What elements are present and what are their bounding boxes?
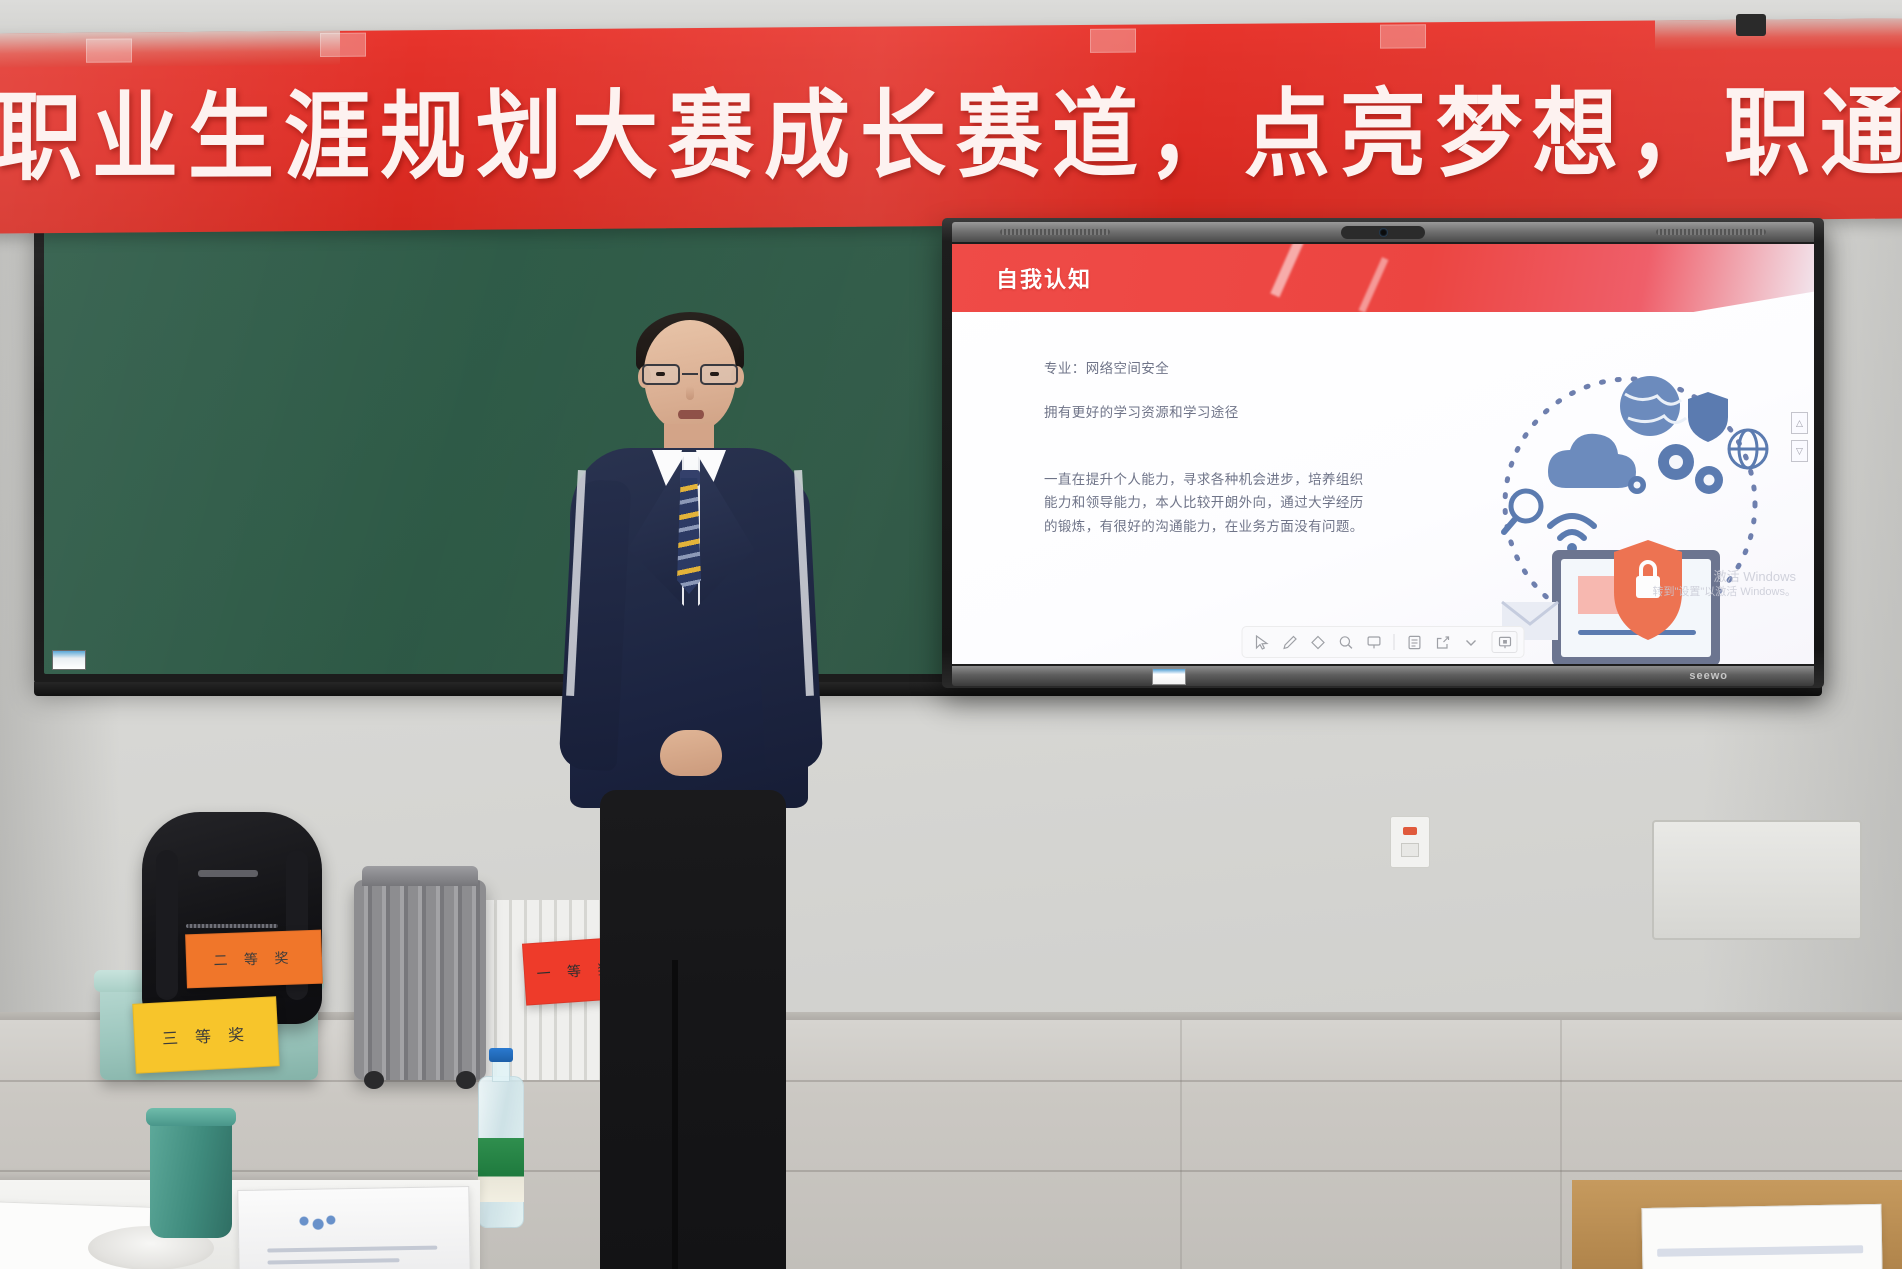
wall-access-panel	[1652, 820, 1862, 940]
camera-pod	[1341, 226, 1425, 239]
presentation-slide: 自我认知 专业：网络空间安全 拥有更好的学习资源和学习途径 一直在提升个人能力，…	[952, 244, 1814, 664]
backpack-zipper	[186, 924, 278, 928]
toolbar-divider	[1394, 634, 1395, 650]
slide-paragraph: 一直在提升个人能力，寻求各种机会进步，培养组织能力和领导能力，本人比较开朗外向，…	[1044, 469, 1374, 540]
clasped-hands	[660, 730, 722, 776]
document-stack	[237, 1186, 471, 1269]
interactive-smart-display[interactable]: 自我认知 专业：网络空间安全 拥有更好的学习资源和学习途径 一直在提升个人能力，…	[942, 218, 1824, 688]
switch-indicator-led	[1403, 827, 1417, 835]
backpack	[142, 812, 322, 1024]
slide-body: 专业：网络空间安全 拥有更好的学习资源和学习途径 一直在提升个人能力，寻求各种机…	[952, 312, 1814, 664]
floor-tile-line	[0, 1080, 1902, 1082]
screen-glare-streak	[1270, 244, 1304, 297]
award-card-second: 二 等 奖	[185, 930, 323, 989]
display-panel[interactable]: 自我认知 专业：网络空间安全 拥有更好的学习资源和学习途径 一直在提升个人能力，…	[952, 244, 1814, 664]
eraser-icon[interactable]	[1305, 631, 1331, 653]
watermark-title: 激活 Windows	[1653, 568, 1797, 586]
document-text-line	[1657, 1245, 1863, 1257]
switch-button[interactable]	[1401, 843, 1419, 857]
chevron-down-icon[interactable]	[1458, 631, 1484, 653]
suitcase-wheel-right	[456, 1071, 476, 1089]
nose	[686, 386, 694, 400]
eye-left	[656, 372, 665, 376]
lens-right	[700, 364, 738, 385]
slide-line-resources: 拥有更好的学习资源和学习途径	[1044, 402, 1374, 424]
suitcase-handle	[362, 866, 478, 886]
banner-fold-right	[1655, 18, 1902, 50]
display-bottom-bezel: seewo	[952, 666, 1814, 686]
banner-tape	[320, 33, 366, 57]
slide-text-block: 专业：网络空间安全 拥有更好的学习资源和学习途径 一直在提升个人能力，寻求各种机…	[1044, 358, 1374, 664]
trouser-inseam	[672, 960, 678, 1269]
microphone-grill-right	[1656, 229, 1766, 235]
security-graphic-svg	[1480, 354, 1780, 664]
rolling-suitcase	[354, 880, 486, 1080]
cup-lid	[146, 1108, 236, 1126]
event-banner: 职业生涯规划大赛成长赛道，点亮梦想，职通未来	[0, 18, 1902, 233]
eyeglasses	[640, 364, 740, 386]
banner-tape	[86, 38, 132, 62]
notes-icon[interactable]	[1402, 631, 1428, 653]
slide-scroll-controls[interactable]: △ ▽	[1791, 412, 1808, 462]
scroll-down-button[interactable]: ▽	[1791, 440, 1808, 462]
document-right	[1641, 1204, 1882, 1269]
floor-tile-line	[1180, 1020, 1182, 1269]
banner-tape	[1380, 24, 1426, 48]
cursor-icon[interactable]	[1249, 631, 1275, 653]
suitcase-wheel-left	[364, 1071, 384, 1089]
search-icon[interactable]	[1333, 631, 1359, 653]
projection-icon[interactable]	[1492, 631, 1518, 653]
wall-switch-plate[interactable]	[1390, 816, 1430, 868]
watermark-subtitle: 转到"设置"以激活 Windows。	[1653, 585, 1797, 600]
slide-title: 自我认知	[996, 262, 1092, 294]
document-text-line	[267, 1258, 399, 1264]
camera-lens-icon	[1379, 228, 1388, 237]
slide-header-band: 自我认知	[952, 244, 1814, 312]
microphone-grill-left	[1000, 229, 1110, 235]
export-icon[interactable]	[1430, 631, 1456, 653]
windows-activation-watermark: 激活 Windows 转到"设置"以激活 Windows。	[1653, 568, 1797, 600]
classroom-scene: 自我认知 专业：网络空间安全 拥有更好的学习资源和学习途径 一直在提升个人能力，…	[0, 0, 1902, 1269]
blackboard-sticker	[52, 650, 86, 670]
spotlight-icon[interactable]	[1361, 631, 1387, 653]
bottle-label	[478, 1138, 524, 1202]
presentation-toolbar[interactable]	[1242, 626, 1525, 658]
backpack-strap-left	[156, 850, 178, 1000]
award-card-third: 三 等 奖	[132, 996, 279, 1073]
slide-line-major: 专业：网络空间安全	[1044, 358, 1374, 380]
eye-right	[710, 372, 719, 376]
seewo-brand-logo: seewo	[1689, 670, 1728, 682]
ceiling-mount-bracket	[1736, 14, 1766, 36]
tea-cup	[150, 1118, 232, 1238]
bottle-cap	[489, 1048, 513, 1062]
document-emblem	[285, 1209, 349, 1238]
banner-tape	[1090, 29, 1136, 53]
scroll-up-button[interactable]: △	[1791, 412, 1808, 434]
cyber-security-illustration	[1480, 354, 1780, 664]
pen-icon[interactable]	[1277, 631, 1303, 653]
water-bottle	[478, 1048, 524, 1228]
mouth	[678, 410, 704, 419]
display-spec-sticker	[1152, 668, 1186, 685]
floor-tile-line	[1560, 1020, 1562, 1269]
student-presenter	[560, 320, 820, 1060]
display-top-bezel	[952, 222, 1814, 242]
trousers	[600, 790, 786, 1269]
floor-tile-line	[0, 1170, 1902, 1172]
glasses-bridge	[682, 373, 698, 375]
document-text-line	[267, 1246, 437, 1253]
backpack-reflector	[198, 870, 258, 877]
screen-glare-streak	[1359, 257, 1389, 313]
banner-slogan: 职业生涯规划大赛成长赛道，点亮梦想，职通未来	[0, 53, 1902, 198]
